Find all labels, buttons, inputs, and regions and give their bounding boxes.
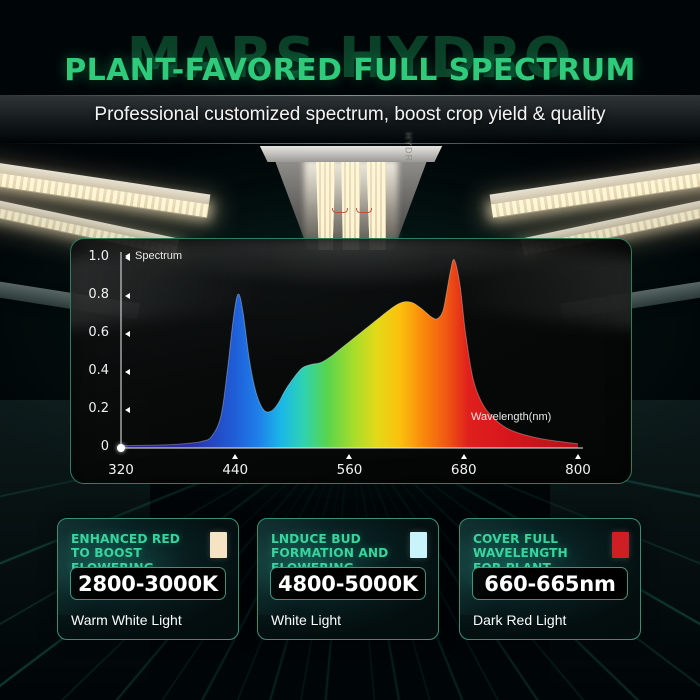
fixture-clip-left: [332, 208, 348, 213]
warm-white-swatch: [210, 532, 227, 558]
x-axis-tick: [346, 454, 352, 459]
x-axis-tick-label: 440: [212, 462, 258, 478]
spec-card-deep-red[interactable]: COVER FULL WAVELENGTH FOR PLANT GROWTH 6…: [459, 518, 641, 640]
fixture-clip-right: [356, 208, 372, 213]
y-axis-tick-label: 1.0: [75, 249, 109, 264]
y-axis-tick: [125, 331, 130, 337]
spectrum-plot: [71, 239, 632, 484]
x-axis-tick-label: 680: [441, 462, 487, 478]
y-axis-tick: [125, 369, 130, 375]
x-axis-title: Wavelength(nm): [471, 411, 551, 423]
x-axis-tick: [461, 454, 467, 459]
led-strip-center: [341, 160, 360, 250]
x-axis-tick-label: 320: [98, 462, 144, 478]
fixture-hood: [254, 146, 448, 162]
card-footer: Dark Red Light: [473, 612, 566, 628]
promo-graphic: HYDRO MARS HYDRO PLANT-FAVORED FULL SPEC…: [0, 0, 700, 700]
y-axis-tick-label: 0: [75, 439, 109, 454]
center-led-fixture: HYDRO: [254, 146, 448, 250]
y-axis-tick: [125, 293, 130, 299]
y-axis-tick-label: 0.2: [75, 401, 109, 416]
x-axis-tick-label: 560: [327, 462, 373, 478]
x-axis-tick: [575, 454, 581, 459]
spectrum-chart-panel: 00.20.40.60.81.0320440560680800SpectrumW…: [70, 238, 632, 484]
card-value-box: 4800-5000K: [270, 567, 426, 600]
spec-card-warm-white[interactable]: ENHANCED RED TO BOOST FLOWERING 2800-300…: [57, 518, 239, 640]
y-axis-tick-label: 0.6: [75, 325, 109, 340]
card-value: 660-665nm: [484, 572, 615, 596]
spec-card-white[interactable]: LNDUCE BUD FORMATION AND FLOWERING 4800-…: [257, 518, 439, 640]
axis-origin-marker: [117, 444, 125, 452]
deep-red-swatch: [612, 532, 629, 558]
card-value: 2800-3000K: [78, 572, 218, 596]
y-axis-tick-label: 0.4: [75, 363, 109, 378]
band-bottom-hairline: [0, 143, 700, 144]
page-title: PLANT-FAVORED FULL SPECTRUM: [0, 53, 700, 88]
cool-white-swatch: [410, 532, 427, 558]
x-axis-tick: [232, 454, 238, 459]
led-strip-right: [367, 160, 386, 250]
card-value: 4800-5000K: [278, 572, 418, 596]
page-subtitle: Professional customized spectrum, boost …: [0, 104, 700, 126]
y-axis-tick-label: 0.8: [75, 287, 109, 302]
card-footer: White Light: [271, 612, 341, 628]
led-strip-left: [316, 160, 335, 250]
card-footer: Warm White Light: [71, 612, 182, 628]
card-value-box: 2800-3000K: [70, 567, 226, 600]
band-top-hairline: [0, 95, 700, 96]
y-axis-title-marker: [125, 253, 130, 259]
y-axis-tick: [125, 407, 130, 413]
y-axis-title: Spectrum: [135, 250, 182, 262]
x-axis-tick-label: 800: [555, 462, 601, 478]
card-value-box: 660-665nm: [472, 567, 628, 600]
